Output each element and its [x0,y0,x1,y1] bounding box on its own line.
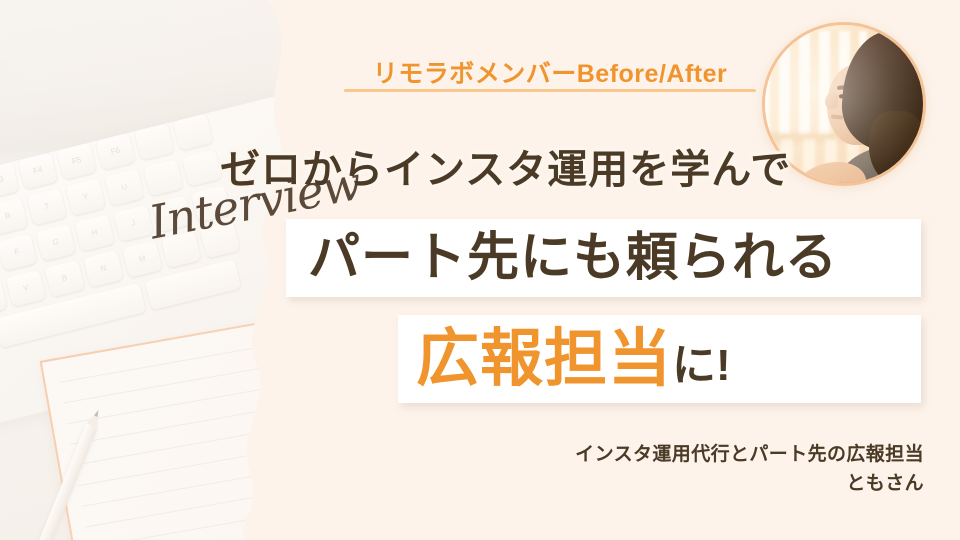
notepad-rule [81,454,310,507]
key: U [104,169,144,206]
eyebrow-label: リモラボメンバーBefore/After [344,54,756,90]
eyebrow-underline [344,89,756,92]
key [182,149,222,186]
headline-box-2-text: 広報担当に! [416,328,731,391]
notepad-rule [89,495,310,540]
key: F [0,234,37,271]
slide-canvas: esc F1 F2 F3 F4 F5 F6 Q W E R T Y [0,0,960,540]
notepad-rule [74,412,310,465]
headline-box-1: パート先にも頼られる [286,219,921,297]
key: N [83,250,123,287]
key: C [0,279,7,316]
key: F4 [18,152,58,189]
key: F5 [57,143,97,180]
caption-line-1: インスタ運用代行とパート先の広報担当 [575,444,924,465]
headline-box-2-tail: に! [672,341,731,390]
key: T [27,188,67,225]
desk-photo-image: esc F1 F2 F3 F4 F5 F6 Q W E R T Y [0,0,310,540]
key: Y [66,178,106,215]
key [173,113,213,150]
key: B [45,260,85,297]
notepad-rule [78,433,310,486]
key: G [36,224,76,261]
notepad-rule [85,474,310,527]
caption-line-2: ともさん [404,469,924,498]
key: F6 [95,133,135,170]
key: R [0,198,28,235]
portrait-nose [825,93,838,109]
notepad-rule [67,371,310,424]
headline-box-1-text: パート先にも頼られる [308,232,838,284]
key: V [6,270,46,307]
key [134,123,174,160]
caption-block: インスタ運用代行とパート先の広報担当 ともさん [404,440,924,499]
desk-photo: esc F1 F2 F3 F4 F5 F6 Q W E R T Y [0,0,310,540]
headline-box-2: 広報担当に! [398,315,921,403]
notepad-rule [70,391,310,444]
portrait-hair-back [869,111,925,185]
key: H [75,214,115,251]
headline-box-2-accent: 広報担当 [416,324,672,394]
key: F3 [0,162,19,199]
